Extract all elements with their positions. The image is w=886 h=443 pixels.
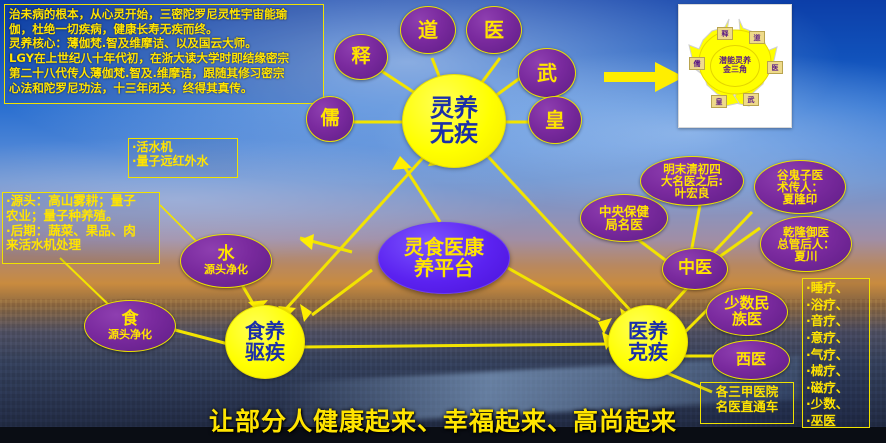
intro-line: 第二十八代传人薄伽梵.智及.维摩诘，跟随其修习密宗 — [9, 66, 320, 81]
top-satellite-dao[interactable]: 道 — [400, 6, 456, 54]
platform-line1: 灵食医康 — [404, 237, 484, 258]
satellite-label: 道 — [418, 20, 438, 41]
food-source-box: ·源头：高山雾耕；量子 农业；量子种养殖。 ·后期：蔬菜、果品、肉 来活水机处理 — [2, 192, 160, 264]
hub-lingyang-wuji[interactable]: 灵养 无疾 — [402, 74, 506, 168]
sat-line: 族医 — [724, 312, 769, 328]
hub-shiyang-quji[interactable]: 食养 驱疾 — [225, 305, 305, 379]
water-sub: 源头净化 — [204, 264, 248, 276]
therapy-item: ·械疗、 — [806, 363, 867, 380]
satellite-label: 武 — [537, 63, 557, 84]
food-source-line: 来活水机处理 — [6, 238, 156, 253]
inset-label-dao: 道 — [749, 31, 765, 44]
food-source-line: ·源头：高山雾耕；量子 — [6, 194, 156, 209]
inset-label-huang: 皇 — [711, 95, 727, 108]
sat-line: 夏隆印 — [777, 193, 823, 205]
intro-line: 灵养核心：薄伽梵.智及维摩诘、以及国云大师。 — [9, 36, 320, 51]
water-tech-line: ·活水机 — [132, 140, 234, 154]
water-tech-line: ·量子远红外水 — [132, 154, 234, 168]
food-title: 食 — [108, 311, 152, 329]
therapy-item: ·音疗、 — [806, 313, 867, 330]
intro-line: 治未病的根本，从心灵开始，三密陀罗尼灵性宇宙能瑜 — [9, 7, 320, 22]
food-sub: 源头净化 — [108, 329, 152, 341]
inset-center-label: 潜能灵养 金三角 — [710, 45, 760, 87]
sat-line: 夏川 — [777, 250, 835, 262]
sat-line: 叶宏良 — [661, 187, 723, 199]
top-satellite-ru[interactable]: 儒 — [306, 96, 354, 142]
slide-headline: 让部分人健康起来、幸福起来、高尚起来 — [0, 402, 886, 438]
transition-arrow — [604, 62, 684, 92]
hub-platform[interactable]: 灵食医康 养平台 — [378, 222, 510, 294]
med-hub-line2: 克疾 — [628, 342, 668, 363]
top-satellite-shi[interactable]: 释 — [334, 34, 388, 80]
node-guiguzi-heir[interactable]: 谷鬼子医 术传人： 夏隆印 — [754, 160, 846, 214]
water-tech-box: ·活水机 ·量子远红外水 — [128, 138, 238, 178]
satellite-label: 医 — [484, 20, 504, 41]
slide-canvas: 治未病的根本，从心灵开始，三密陀罗尼灵性宇宙能瑜 伽，杜绝一切疾病，健康长寿无疾… — [0, 0, 886, 443]
platform-line2: 养平台 — [404, 258, 484, 279]
satellite-label: 释 — [351, 47, 370, 67]
therapy-item: ·睡疗、 — [806, 280, 867, 297]
food-hub-line1: 食养 — [245, 321, 285, 342]
therapy-item: ·浴疗、 — [806, 297, 867, 314]
golden-triangle-inset: 潜能灵养 金三角 释 道 医 武 皇 儒 — [678, 4, 792, 128]
node-qianlong-imperial-doctor-heir[interactable]: 乾隆御医 总管后人： 夏川 — [760, 216, 852, 272]
food-source-line: ·后期：蔬菜、果品、肉 — [6, 224, 156, 239]
hub-yiyang-keji[interactable]: 医养 克疾 — [608, 305, 688, 379]
inset-center-line2: 金三角 — [719, 66, 751, 75]
intro-text-box: 治未病的根本，从心灵开始，三密陀罗尼灵性宇宙能瑜 伽，杜绝一切疾病，健康长寿无疾… — [4, 4, 324, 104]
water-title: 水 — [204, 246, 248, 264]
food-hub-line2: 驱疾 — [245, 342, 285, 363]
intro-line: LGY在上世纪八十年代初，在浙大读大学时即结缘密宗 — [9, 51, 320, 66]
node-ethnic-minority-medicine[interactable]: 少数民 族医 — [706, 288, 788, 336]
inset-label-wu: 武 — [743, 93, 759, 106]
food-source-line: 农业；量子种养殖。 — [6, 209, 156, 224]
satellite-label: 儒 — [320, 109, 339, 129]
sat-line: 西医 — [736, 352, 766, 368]
tcm-label: 中医 — [678, 260, 712, 278]
node-western-medicine[interactable]: 西医 — [712, 340, 790, 380]
therapy-item: ·气疗、 — [806, 347, 867, 364]
satellite-label: 皇 — [545, 110, 565, 131]
top-satellite-yi[interactable]: 医 — [466, 6, 522, 54]
sat-line: 局名医 — [599, 218, 649, 231]
top-satellite-huang[interactable]: 皇 — [528, 96, 582, 144]
therapy-item: ·意疗、 — [806, 330, 867, 347]
inset-label-shi: 释 — [717, 27, 733, 40]
inset-label-yi: 医 — [767, 61, 783, 74]
node-water[interactable]: 水 源头净化 — [180, 234, 272, 288]
intro-line: 伽，杜绝一切疾病，健康长寿无疾而终。 — [9, 22, 320, 37]
node-ming-qing-four-doctors-heir[interactable]: 明末清初四 大名医之后: 叶宏良 — [640, 156, 744, 206]
hospital-line: 各三甲医院 — [703, 385, 791, 400]
intro-line: 心法和陀罗尼功法，十三年闭关，终得其真传。 — [9, 81, 320, 96]
therapy-item: ·磁疗、 — [806, 380, 867, 397]
inset-label-ru: 儒 — [689, 57, 705, 70]
top-satellite-wu[interactable]: 武 — [518, 48, 576, 98]
hub-top-line2: 无疾 — [430, 121, 478, 146]
node-food-source[interactable]: 食 源头净化 — [84, 300, 176, 352]
hub-top-line1: 灵养 — [430, 96, 478, 121]
node-tcm[interactable]: 中医 — [662, 248, 728, 290]
med-hub-line1: 医养 — [628, 321, 668, 342]
node-central-health-bureau-doctor[interactable]: 中央保健 局名医 — [580, 194, 668, 242]
